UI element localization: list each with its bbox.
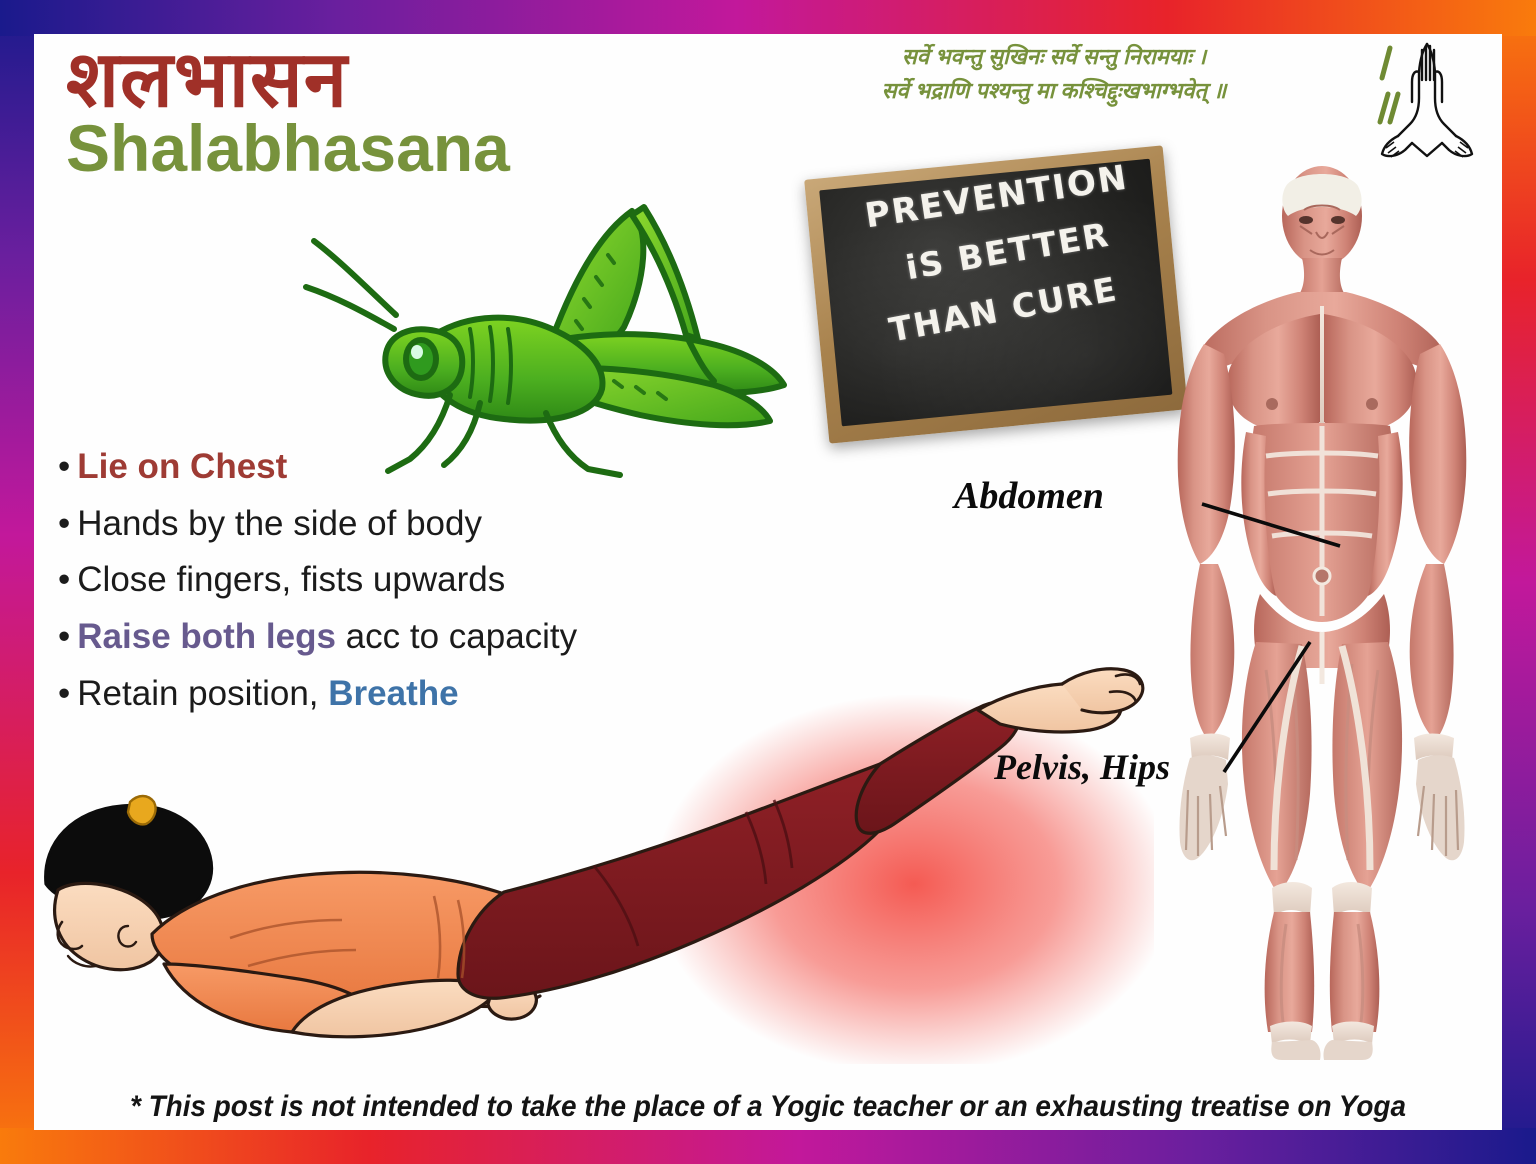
list-item-text: Hands by the side of body <box>77 504 482 543</box>
sanskrit-shloka: सर्वे भवन्तु सुखिनः सर्वे सन्तु निरामयाः… <box>724 40 1384 108</box>
footer-disclaimer: * This post is not intended to take the … <box>85 1090 1450 1124</box>
shloka-line-1: सर्वे भवन्तु सुखिनः सर्वे सन्तु निरामयाः… <box>724 40 1384 74</box>
chalkboard: PREVENTION iS BETTER THAN CURE <box>804 145 1188 443</box>
list-item: •Hands by the side of body <box>58 496 748 553</box>
anatomy-label-pelvis-hips: Pelvis, Hips <box>994 746 1170 788</box>
bullet-dot: • <box>58 504 70 543</box>
bullet-dot: • <box>58 447 70 486</box>
shalabhasana-pose-illustration <box>34 634 1154 1064</box>
list-item-text: Lie on Chest <box>77 447 287 486</box>
page-title-english: Shalabhasana <box>66 114 510 183</box>
anatomy-label-abdomen: Abdomen <box>954 474 1104 518</box>
poster-frame: शलभासन Shalabhasana सर्वे भवन्तु सुखिनः … <box>0 0 1536 1164</box>
page-title-devanagari: शलभासन <box>66 40 510 118</box>
poster-canvas: शलभासन Shalabhasana सर्वे भवन्तु सुखिनः … <box>34 34 1502 1130</box>
shloka-line-2: सर्वे भद्राणि पश्यन्तु मा कश्चिद्दुःखभाग… <box>724 74 1384 108</box>
list-item-text: Close fingers, fists upwards <box>77 560 505 599</box>
title-block: शलभासन Shalabhasana <box>66 40 510 183</box>
list-item: •Lie on Chest <box>58 439 748 496</box>
bullet-dot: • <box>58 560 70 599</box>
human-muscular-anatomy-figure <box>1134 164 1502 1064</box>
praying-hands-icon <box>1372 36 1482 166</box>
list-item: •Close fingers, fists upwards <box>58 552 748 609</box>
